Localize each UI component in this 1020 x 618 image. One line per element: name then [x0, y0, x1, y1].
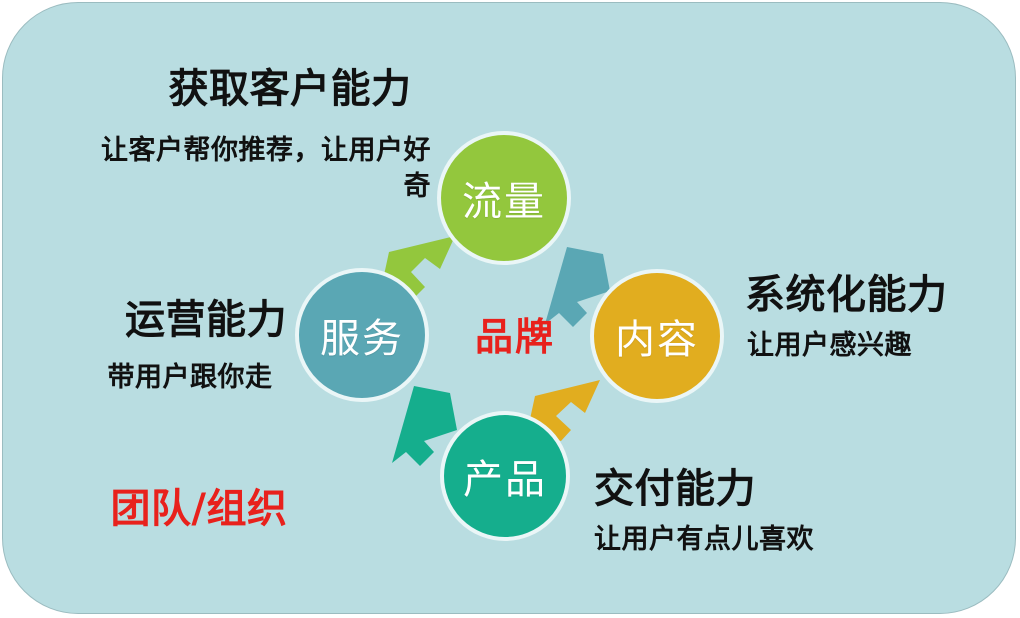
cycle-node-content-label: 内容 [615, 307, 699, 365]
center-brand-label: 品牌 [455, 306, 575, 361]
cycle-node-service[interactable]: 服务 [295, 268, 429, 402]
cycle-node-product[interactable]: 产品 [440, 411, 570, 541]
caption-acquire-title: 获取客户能力 [150, 66, 430, 113]
diagram-canvas: 获取客户能力 让客户帮你推荐，让用户好 奇 运营能力 带用户跟你走 团队/组织 … [0, 0, 1020, 618]
caption-system-title: 系统化能力 [745, 272, 945, 319]
cycle-node-traffic[interactable]: 流量 [437, 131, 571, 265]
caption-deliver-title: 交付能力 [594, 466, 794, 513]
cycle-node-content[interactable]: 内容 [590, 269, 724, 403]
caption-acquire-subtitle: 让客户帮你推荐，让用户好 奇 [56, 133, 431, 206]
caption-operate-subtitle: 带用户跟你走 [90, 362, 290, 394]
caption-system-subtitle: 让用户感兴趣 [747, 330, 967, 362]
cycle-node-service-label: 服务 [320, 306, 404, 364]
caption-team-label: 团队/组织 [94, 486, 304, 533]
caption-deliver-subtitle: 让用户有点儿喜欢 [594, 524, 854, 556]
cycle-node-traffic-label: 流量 [462, 169, 546, 227]
cycle-node-product-label: 产品 [463, 447, 547, 505]
caption-operate-title: 运营能力 [106, 297, 306, 344]
